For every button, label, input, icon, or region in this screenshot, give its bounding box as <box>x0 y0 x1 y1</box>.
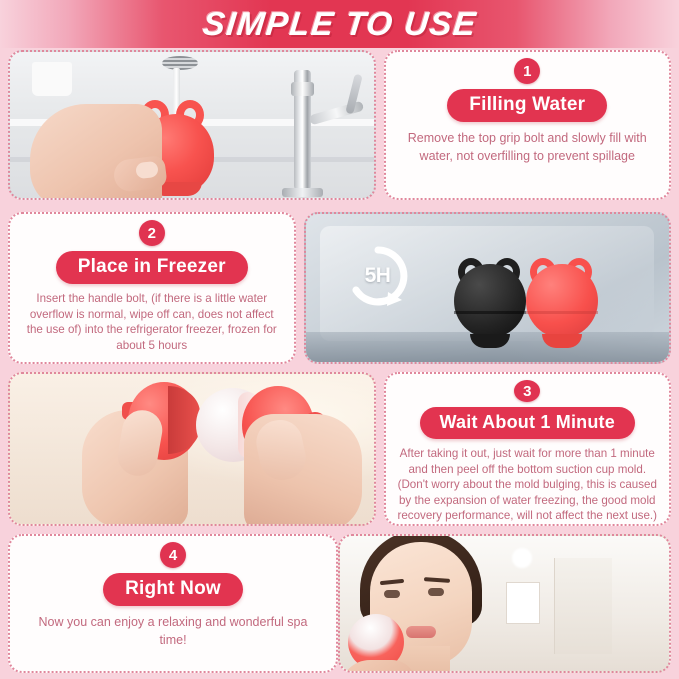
step-1-text-card: 1 Filling Water Remove the top grip bolt… <box>384 50 672 200</box>
step-2-photo: 5H <box>304 212 672 364</box>
step-row-3: 3 Wait About 1 Minute After taking it ou… <box>0 372 679 532</box>
step-3-title: Wait About 1 Minute <box>420 407 635 439</box>
step-4-description: Now you can enjoy a relaxing and wonderf… <box>23 613 323 649</box>
page-title: SIMPLE TO USE <box>201 5 479 43</box>
step-1-number-badge: 1 <box>514 58 540 84</box>
step-4-title: Right Now <box>103 573 243 606</box>
five-hours-label: 5H <box>344 242 412 310</box>
infographic-page: SIMPLE TO USE 1 Filling Water Remove t <box>0 0 679 679</box>
red-mold-body <box>526 264 598 338</box>
faucet-collar <box>291 82 314 96</box>
door-graphic <box>554 558 612 654</box>
step-row-2: 2 Place in Freezer Insert the handle bol… <box>0 212 679 370</box>
black-mold-body <box>454 264 526 338</box>
eye-right <box>428 588 444 596</box>
five-hours-timer-icon: 5H <box>344 242 412 310</box>
step-3-photo <box>8 372 376 526</box>
step-row-1: 1 Filling Water Remove the top grip bolt… <box>0 50 679 208</box>
step-2-title: Place in Freezer <box>56 251 248 284</box>
step-4-number-badge: 4 <box>160 542 186 568</box>
faucet-base <box>282 188 323 197</box>
step-2-number-badge: 2 <box>139 220 165 246</box>
step-row-4: 4 Right Now Now you can enjoy a relaxing… <box>0 534 679 679</box>
step-2-text-card: 2 Place in Freezer Insert the handle bol… <box>8 212 296 364</box>
step-2-description: Insert the handle bolt, (if there is a l… <box>10 291 294 353</box>
step-3-text-card: 3 Wait About 1 Minute After taking it ou… <box>384 372 672 526</box>
step-4-text-card: 4 Right Now Now you can enjoy a relaxing… <box>8 534 338 673</box>
step-1-description: Remove the top grip bolt and slowly fill… <box>386 129 670 165</box>
ceiling-light <box>512 548 532 568</box>
cup-object <box>32 62 72 96</box>
eye-left <box>384 590 400 598</box>
step-3-number-badge: 3 <box>514 380 540 402</box>
header-banner: SIMPLE TO USE <box>0 0 679 48</box>
black-mold-seam <box>454 311 526 314</box>
step-1-title: Filling Water <box>447 89 607 122</box>
step-1-photo <box>8 50 376 200</box>
red-mold-seam <box>526 311 598 314</box>
step-3-description: After taking it out, just wait for more … <box>386 446 670 524</box>
bolt-icon <box>162 56 198 70</box>
lips <box>406 626 436 638</box>
step-4-photo <box>338 534 671 673</box>
wall-picture-frame <box>506 582 540 624</box>
